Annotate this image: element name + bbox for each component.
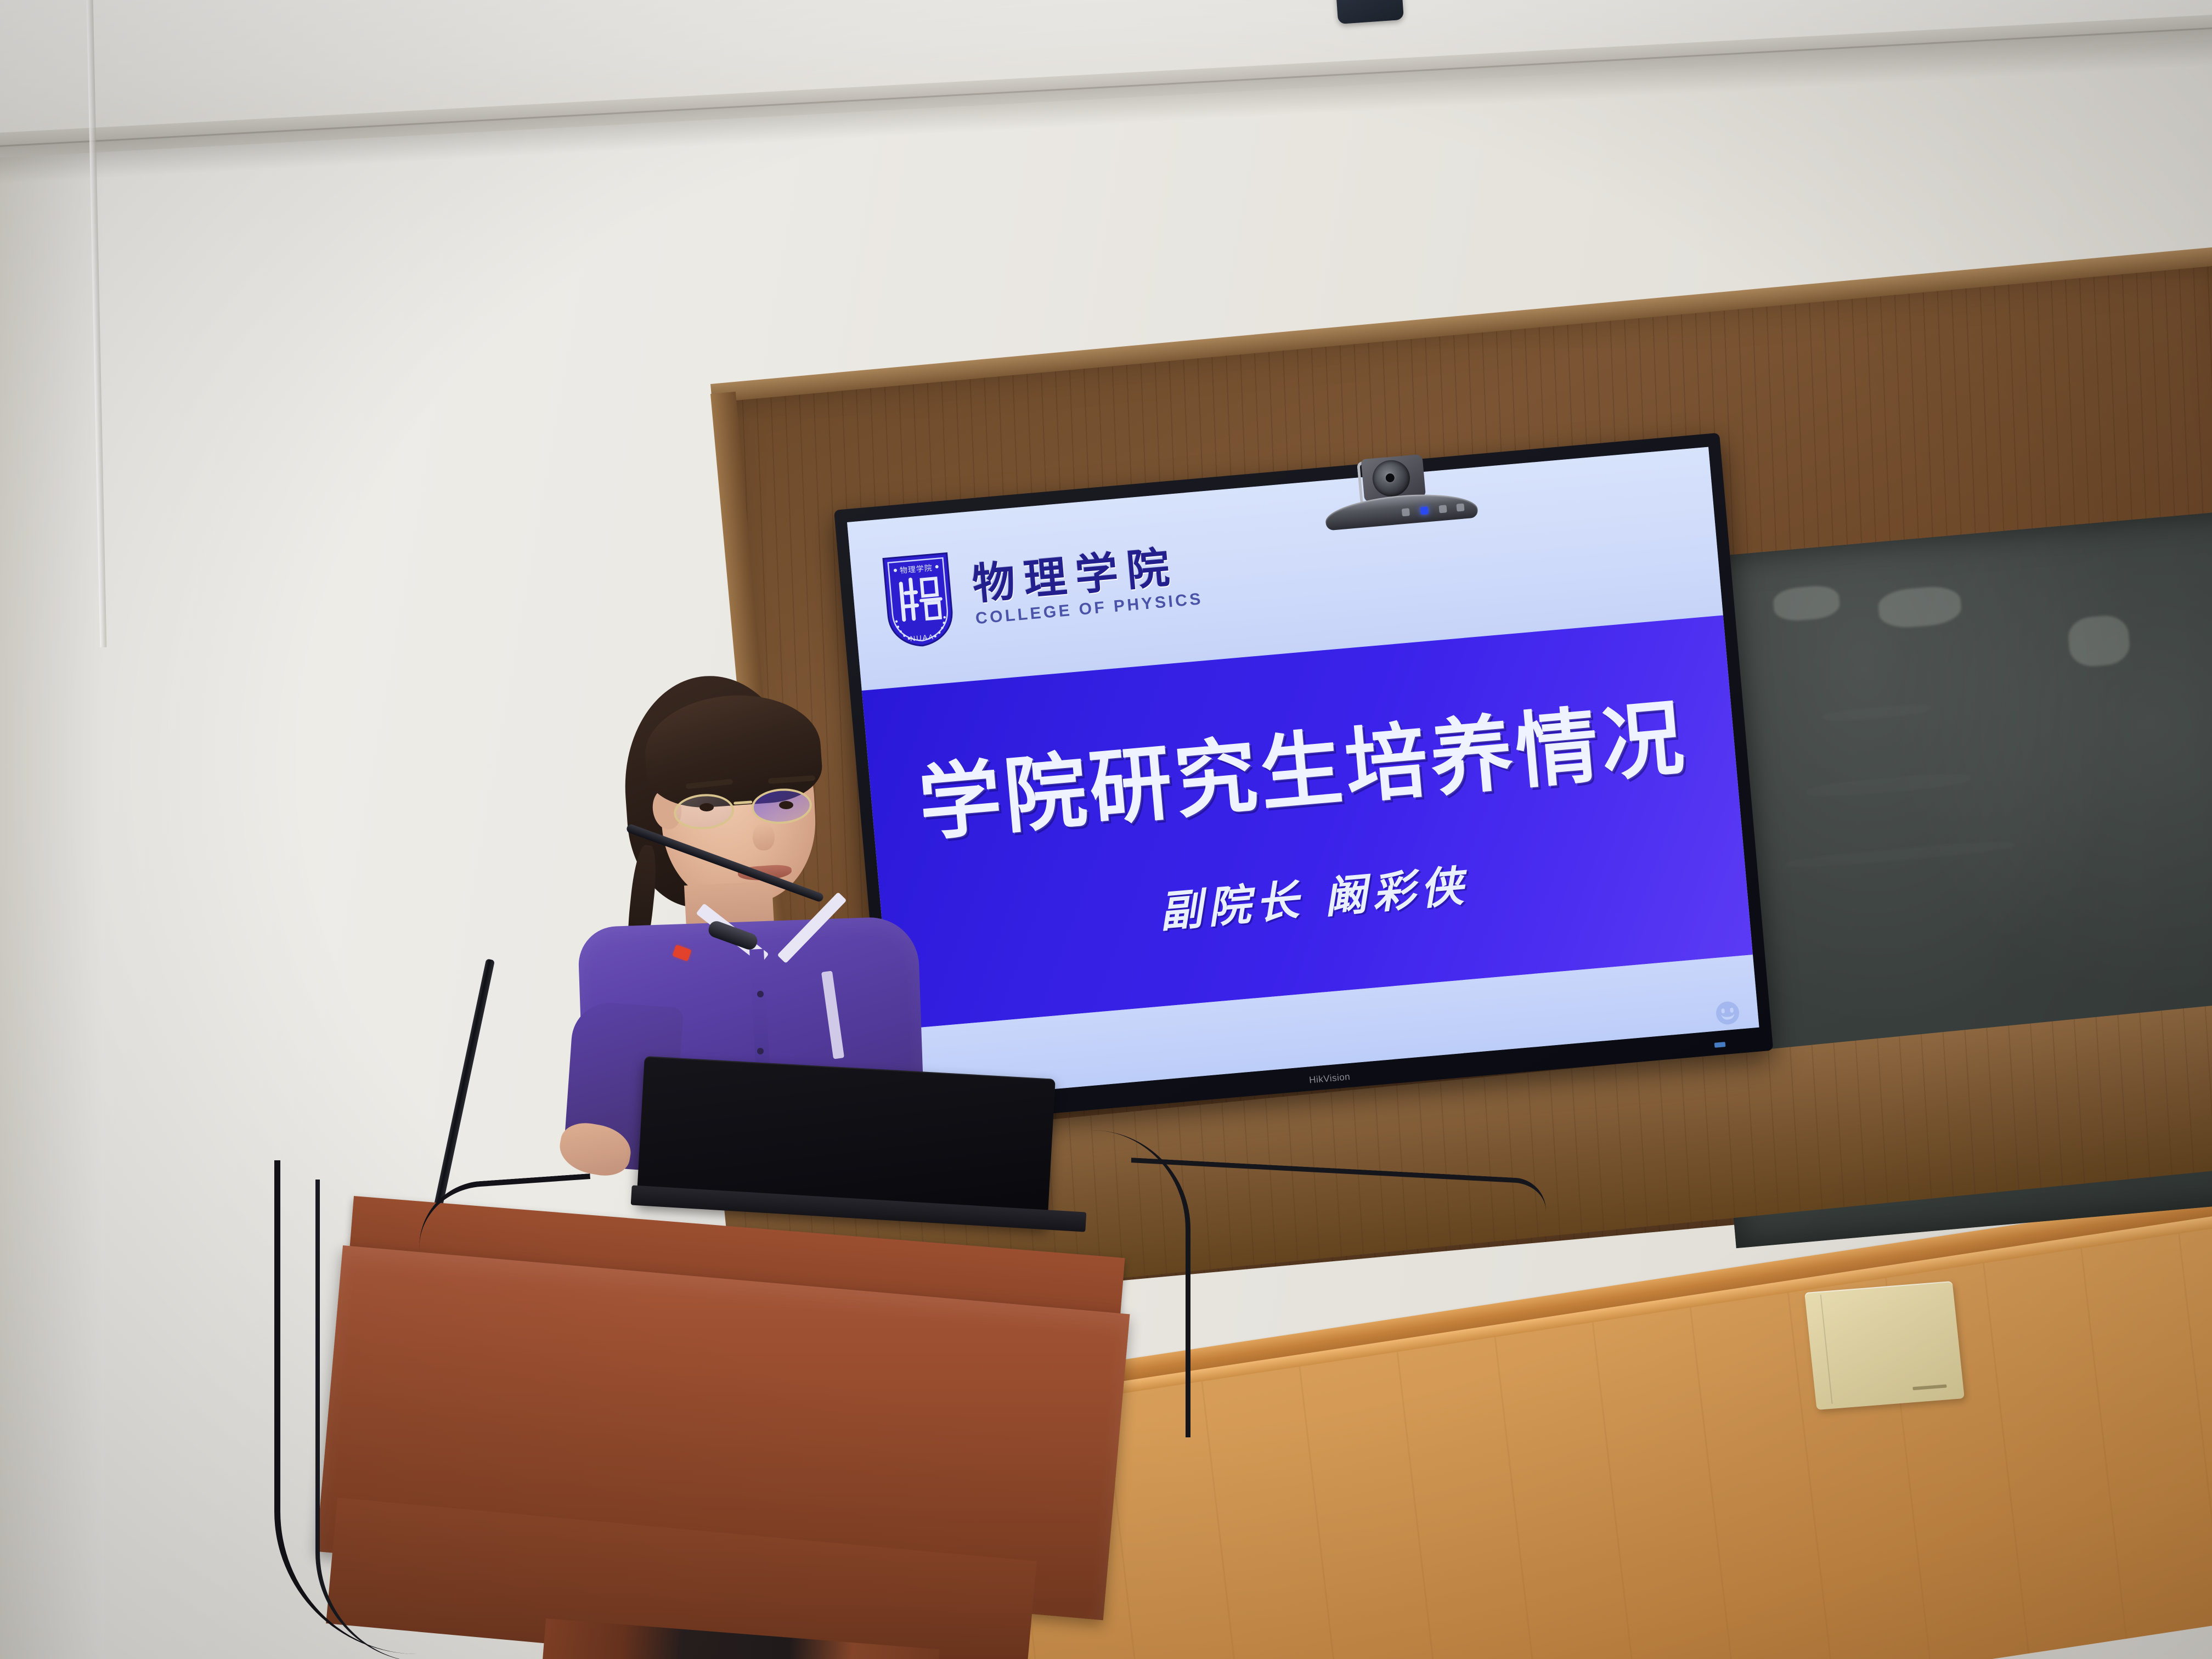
shirt-button-2 [757,1048,764,1054]
photo-scene: 物理学院 [0,0,2212,1659]
switch-plate-marking [1912,1384,1946,1390]
slide-title: 学院研究生培养情况 [916,695,1690,848]
lens-left [673,792,735,832]
glasses-bridge [733,800,752,804]
nuaa-college-of-physics-crest-icon: 物理学院 [879,551,959,651]
display-power-led [1714,1042,1726,1048]
camera-indicator-2-lit [1420,506,1429,515]
camera-indicator-1 [1402,508,1410,516]
eye-right [779,801,793,809]
switch-plate-seam [1820,1295,1833,1404]
smiley-face-icon [1715,1001,1740,1026]
camera-indicator-4 [1456,503,1464,511]
display-brand-label: HikVision [1308,1071,1351,1086]
wall-switch-plate[interactable] [1804,1281,1965,1410]
nose [753,823,775,850]
wall-display[interactable]: 物理学院 [834,433,1773,1128]
presentation-slide: 物理学院 [847,447,1759,1103]
display-bezel: 物理学院 [834,433,1773,1128]
eye-left [699,803,714,811]
college-logo-text: 物理学院 COLLEGE OF PHYSICS [970,544,1204,628]
shirt-button-1 [757,991,764,997]
left-wall [0,0,104,1659]
slide-subtitle: 副院长 阚彩侠 [1156,851,1471,940]
ptz-conference-camera-icon [1314,449,1485,538]
camera-indicator-3 [1439,505,1447,513]
camera-base [1324,489,1478,531]
power-cable-secondary [315,1180,442,1659]
